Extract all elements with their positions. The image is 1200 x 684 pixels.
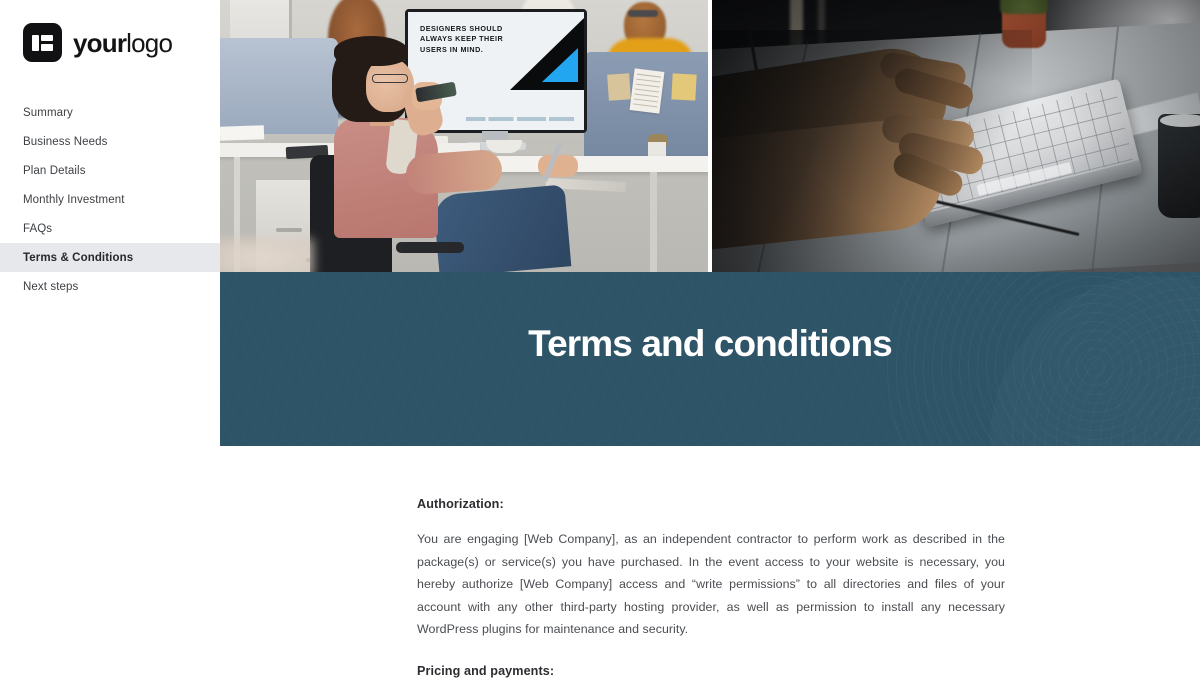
logo-wordmark: yourlogo [73,30,172,56]
logo-text-bold: your [73,28,126,58]
sidebar-item-next-steps[interactable]: Next steps [0,272,220,301]
hero-image-row: DESIGNERS SHOULD ALWAYS KEEP THEIR USERS… [220,0,1200,272]
page-title: Terms and conditions [220,324,1200,365]
terms-body: Authorization: You are engaging [Web Com… [220,446,1200,684]
section-heading-pricing-and-payments: Pricing and payments: [417,664,1005,678]
sidebar-item-terms-and-conditions[interactable]: Terms & Conditions [0,243,220,272]
hands-typing-keyboard-photo [712,0,1200,272]
sidebar-menu: Summary Business Needs Plan Details Mont… [0,98,220,301]
sidebar-item-business-needs[interactable]: Business Needs [0,127,220,156]
logo-text-light: logo [126,28,172,58]
sidebar-item-monthly-investment[interactable]: Monthly Investment [0,185,220,214]
layout-grid-icon [23,23,62,62]
office-meeting-photo: DESIGNERS SHOULD ALWAYS KEEP THEIR USERS… [220,0,708,272]
sidebar-item-summary[interactable]: Summary [0,98,220,127]
sidebar-navigation: yourlogo Summary Business Needs Plan Det… [0,0,220,684]
section-paragraph-authorization: You are engaging [Web Company], as an in… [417,528,1005,641]
section-heading-authorization: Authorization: [417,497,1005,511]
monitor-slide-text: DESIGNERS SHOULD ALWAYS KEEP THEIR USERS… [420,24,503,55]
brand-logo[interactable]: yourlogo [0,0,220,62]
sidebar-item-plan-details[interactable]: Plan Details [0,156,220,185]
page-title-banner: Terms and conditions [220,272,1200,446]
document-content: DESIGNERS SHOULD ALWAYS KEEP THEIR USERS… [220,0,1200,684]
sidebar-item-faqs[interactable]: FAQs [0,214,220,243]
proposal-document-page: yourlogo Summary Business Needs Plan Det… [0,0,1200,684]
